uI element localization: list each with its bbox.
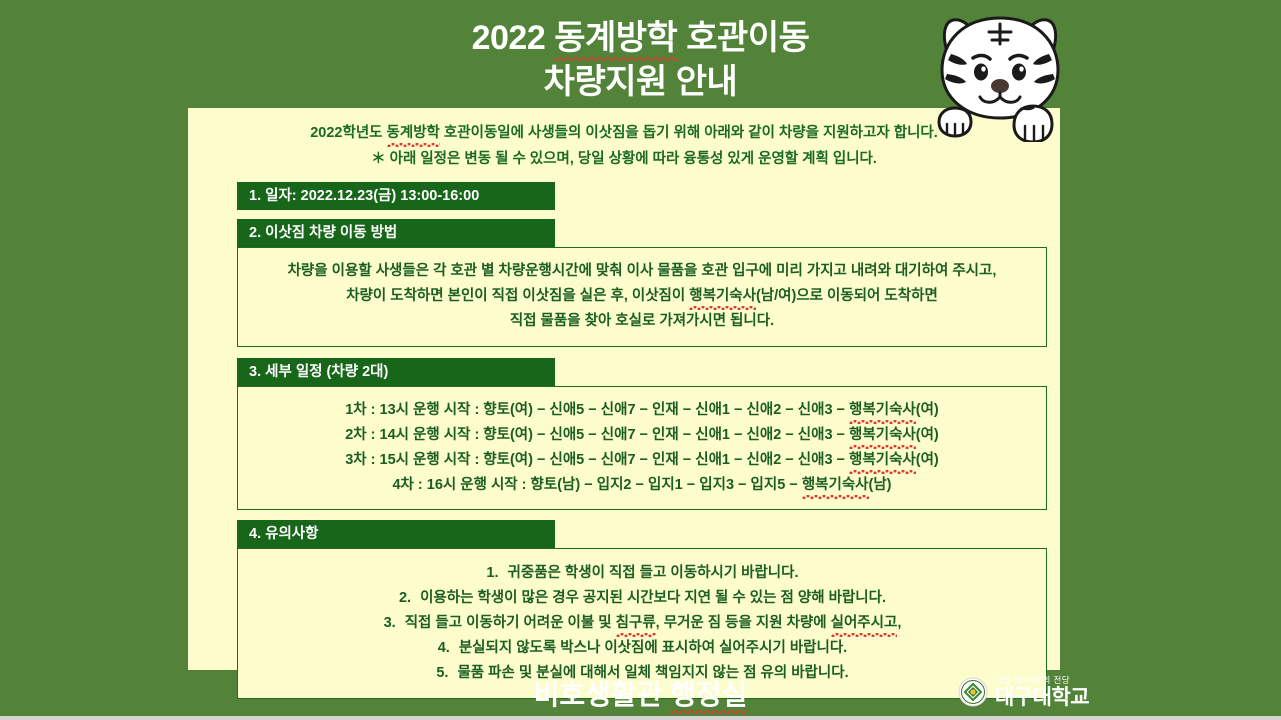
section-header-schedule: 3. 세부 일정 (차량 2대) bbox=[237, 358, 555, 386]
poster-title: 2022 동계방학 호관이동 차량지원 안내 bbox=[0, 16, 1281, 104]
intro-spellcheck-word: 동계방학 bbox=[387, 120, 440, 146]
poster-canvas: 2022 동계방학 호관이동 차량지원 안내 bbox=[0, 0, 1281, 720]
schedule-run-2-gender: (여) bbox=[916, 427, 939, 443]
schedule-run-3-gender: (여) bbox=[916, 452, 939, 468]
schedule-run-1: 1차 : 13시 운행 시작 : 향토(여) − 신애5 − 신애7 − 인재 … bbox=[246, 398, 1038, 423]
move-method-spellcheck-word: 행복기숙사 bbox=[689, 284, 756, 309]
note-item-1-number: 1. bbox=[485, 561, 499, 586]
university-tagline: 사랑·빛·자유의 전당 bbox=[995, 676, 1089, 685]
footer-office-text: 비호생활관 행정실 bbox=[534, 679, 748, 710]
note-item-3-spellcheck-word-1: 침구류 bbox=[616, 611, 656, 636]
note-item-4-text: 분실되지 않도록 박스나 이삿짐에 표시하여 실어주시기 바랍니다. bbox=[459, 640, 847, 656]
note-item-3-text-e: , bbox=[897, 615, 901, 631]
section-box-move-method: 차량을 이용할 사생들은 각 호관 별 차량운행시간에 맞춰 이사 물품을 호관… bbox=[237, 247, 1047, 347]
schedule-run-4: 4차 : 16시 운행 시작 : 향토(남) − 입지2 − 입지1 − 입지3… bbox=[246, 473, 1038, 498]
schedule-run-1-gender: (여) bbox=[916, 402, 939, 418]
note-item-2: 2. 이용하는 학생이 많은 경우 공지된 시간보다 지연 될 수 있는 점 양… bbox=[246, 586, 1038, 611]
note-item-2-text: 이용하는 학생이 많은 경우 공지된 시간보다 지연 될 수 있는 점 양해 바… bbox=[420, 590, 886, 606]
white-tiger-mascot-icon bbox=[915, 2, 1085, 142]
section-header-notes: 4. 유의사항 bbox=[237, 520, 555, 548]
schedule-run-2: 2차 : 14시 운행 시작 : 향토(여) − 신애5 − 신애7 − 인재 … bbox=[246, 423, 1038, 448]
note-item-3-spellcheck-word-2: 실어주시고 bbox=[831, 611, 898, 636]
schedule-run-4-route: 4차 : 16시 운행 시작 : 향토(남) − 입지2 − 입지1 − 입지3… bbox=[392, 477, 801, 493]
title-line-1: 2022 동계방학 호관이동 bbox=[0, 16, 1281, 60]
schedule-run-4-destination: 행복기숙사 bbox=[802, 473, 869, 498]
move-method-line-2: 차량이 도착하면 본인이 직접 이삿짐을 실은 후, 이삿짐이 행복기숙사(남/… bbox=[246, 284, 1038, 309]
content-panel: 2022학년도 동계방학 호관이동일에 사생들의 이삿짐을 돕기 위해 아래와 … bbox=[188, 108, 1060, 670]
intro-text-a: 2022학년도 bbox=[310, 125, 386, 141]
note-item-1-text: 귀중품은 학생이 직접 들고 이동하시기 바랍니다. bbox=[508, 565, 799, 581]
title-text-a: 2022 bbox=[472, 19, 555, 57]
intro-line-2: ＊ 아래 일정은 변동 될 수 있으며, 당일 상황에 따라 융통성 있게 운영… bbox=[188, 146, 1060, 172]
note-item-1: 1. 귀중품은 학생이 직접 들고 이동하시기 바랍니다. bbox=[246, 561, 1038, 586]
schedule-run-2-destination: 행복기숙사 bbox=[849, 423, 916, 448]
intro-text-c: 호관이동일에 사생들의 이삿짐을 돕기 위해 아래와 같이 차량을 지원하고자 … bbox=[440, 125, 938, 141]
schedule-run-2-route: 2차 : 14시 운행 시작 : 향토(여) − 신애5 − 신애7 − 인재 … bbox=[345, 427, 849, 443]
footer-spellcheck-word: 행정실 bbox=[670, 673, 747, 713]
note-item-2-number: 2. bbox=[398, 586, 412, 611]
title-line-2: 차량지원 안내 bbox=[0, 60, 1281, 104]
schedule-run-3-route: 3차 : 15시 운행 시작 : 향토(여) − 신애5 − 신애7 − 인재 … bbox=[345, 452, 849, 468]
university-name: 대구대학교 bbox=[995, 687, 1089, 708]
title-text-c: 호관이동 bbox=[677, 19, 809, 57]
schedule-run-3: 3차 : 15시 운행 시작 : 향토(여) − 신애5 − 신애7 − 인재 … bbox=[246, 448, 1038, 473]
move-method-text-a: 차량이 도착하면 본인이 직접 이삿짐을 실은 후, 이삿짐이 bbox=[346, 288, 689, 304]
section-box-schedule: 1차 : 13시 운행 시작 : 향토(여) − 신애5 − 신애7 − 인재 … bbox=[237, 386, 1047, 510]
section-header-move-method: 2. 이삿짐 차량 이동 방법 bbox=[237, 219, 555, 247]
note-item-3-number: 3. bbox=[383, 611, 397, 636]
university-logo-text: 사랑·빛·자유의 전당 대구대학교 bbox=[995, 676, 1089, 708]
university-logo: 사랑·빛·자유의 전당 대구대학교 bbox=[958, 676, 1089, 708]
schedule-run-1-route: 1차 : 13시 운행 시작 : 향토(여) − 신애5 − 신애7 − 인재 … bbox=[345, 402, 849, 418]
schedule-run-1-destination: 행복기숙사 bbox=[849, 398, 916, 423]
move-method-line-3: 직접 물품을 찾아 호실로 가져가시면 됩니다. bbox=[246, 309, 1038, 334]
note-item-4: 4. 분실되지 않도록 박스나 이삿짐에 표시하여 실어주시기 바랍니다. bbox=[246, 636, 1038, 661]
title-spellcheck-word: 동계방학 bbox=[554, 16, 677, 60]
note-item-3: 3. 직접 들고 이동하기 어려운 이불 및 침구류, 무거운 짐 등을 지원 … bbox=[246, 611, 1038, 636]
daegu-university-emblem-icon bbox=[958, 677, 988, 707]
move-method-line-1: 차량을 이용할 사생들은 각 호관 별 차량운행시간에 맞춰 이사 물품을 호관… bbox=[246, 259, 1038, 284]
note-item-4-number: 4. bbox=[437, 636, 451, 661]
schedule-run-3-destination: 행복기숙사 bbox=[849, 448, 916, 473]
note-item-3-text-c: , 무거운 짐 등을 지원 차량에 bbox=[656, 615, 831, 631]
note-item-3-text-a: 직접 들고 이동하기 어려운 이불 및 bbox=[405, 615, 616, 631]
bottom-strip bbox=[0, 716, 1281, 720]
move-method-text-c: (남/여)으로 이동되어 도착하면 bbox=[756, 288, 938, 304]
schedule-run-4-gender: (남) bbox=[869, 477, 892, 493]
section-header-date: 1. 일자: 2022.12.23(금) 13:00-16:00 bbox=[237, 182, 555, 210]
